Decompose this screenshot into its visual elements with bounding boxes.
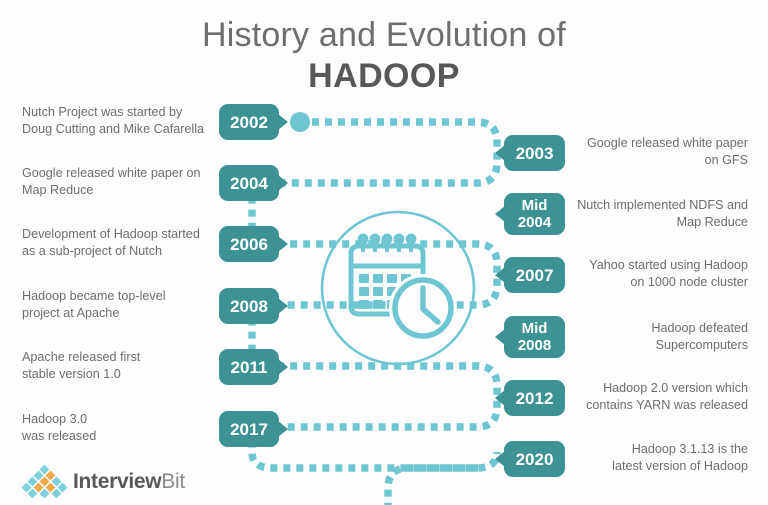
- year-badge-left-5-line-0: 2017: [230, 420, 268, 439]
- year-badge-left-2-line-0: 2006: [230, 235, 268, 254]
- event-text-right-5-line-1: latest version of Hadoop: [563, 458, 748, 475]
- event-text-right-0: Google released white paper on GFS: [563, 135, 748, 169]
- year-badge-right-5[interactable]: 2020: [504, 441, 565, 477]
- year-badge-right-2[interactable]: 2007: [504, 257, 565, 293]
- year-badge-left-2[interactable]: 2006: [219, 226, 279, 262]
- year-badge-right-5-line-0: 2020: [516, 450, 554, 469]
- event-text-left-4-line-1: stable version 1.0: [22, 366, 212, 383]
- event-text-left-3-line-0: Hadoop became top-level: [22, 288, 212, 305]
- event-text-right-5: Hadoop 3.1.13 is the latest version of H…: [563, 441, 748, 475]
- event-text-left-1-line-0: Google released white paper on: [22, 165, 212, 182]
- year-badge-left-4-line-0: 2011: [231, 358, 268, 377]
- year-badge-right-2-line-0: 2007: [516, 266, 554, 285]
- event-text-right-1-line-1: Map Reduce: [563, 214, 748, 231]
- event-text-right-4: Hadoop 2.0 version which contains YARN w…: [563, 380, 748, 414]
- event-text-left-3-line-1: project at Apache: [22, 305, 212, 322]
- event-text-left-4: Apache released first stable version 1.0: [22, 349, 212, 383]
- year-badge-left-4[interactable]: 2011: [219, 349, 279, 385]
- infographic-canvas: History and Evolution of HADOOP 2002 200…: [0, 0, 768, 505]
- event-text-right-3-line-0: Hadoop defeated: [563, 320, 748, 337]
- event-text-left-4-line-0: Apache released first: [22, 349, 212, 366]
- year-badge-right-3[interactable]: Mid 2008: [504, 316, 565, 358]
- event-text-right-1-line-0: Nutch implemented NDFS and: [563, 197, 748, 214]
- event-text-left-5-line-1: was released: [22, 428, 212, 445]
- event-text-left-0: Nutch Project was started by Doug Cuttin…: [22, 104, 212, 138]
- year-badge-right-0[interactable]: 2003: [504, 135, 565, 171]
- event-text-right-3-line-1: Supercomputers: [563, 337, 748, 354]
- event-text-right-4-line-1: contains YARN was released: [563, 397, 748, 414]
- event-text-left-2: Development of Hadoop started as a sub-p…: [22, 226, 212, 260]
- event-text-right-0-line-0: Google released white paper: [563, 135, 748, 152]
- event-text-left-5-line-0: Hadoop 3.0: [22, 411, 212, 428]
- event-text-right-5-line-0: Hadoop 3.1.13 is the: [563, 441, 748, 458]
- year-badge-right-0-line-0: 2003: [516, 144, 554, 163]
- event-text-left-1-line-1: Map Reduce: [22, 182, 212, 199]
- year-badge-right-1[interactable]: Mid 2004: [504, 193, 565, 235]
- event-text-left-5: Hadoop 3.0 was released: [22, 411, 212, 445]
- year-badge-right-1-line-1: 2004: [518, 214, 551, 231]
- interviewbit-wordmark: InterviewBit: [73, 471, 185, 492]
- year-badge-right-1-line-0: Mid: [522, 197, 548, 214]
- event-text-right-3: Hadoop defeated Supercomputers: [563, 320, 748, 354]
- event-text-left-3: Hadoop became top-level project at Apach…: [22, 288, 212, 322]
- calendar-clock-icon: [318, 208, 478, 368]
- year-badge-left-1[interactable]: 2004: [219, 165, 279, 201]
- event-text-right-2-line-0: Yahoo started using Hadoop: [563, 257, 748, 274]
- event-text-left-1: Google released white paper on Map Reduc…: [22, 165, 212, 199]
- logo-word-bit: Bit: [161, 470, 185, 493]
- timeline-start-dot: [290, 112, 310, 132]
- year-badge-left-3-line-0: 2008: [230, 297, 268, 316]
- interviewbit-logo-mark: [20, 464, 68, 498]
- logo-word-interview: Interview: [73, 470, 161, 493]
- year-badge-right-3-line-0: Mid: [522, 320, 548, 337]
- event-text-left-0-line-0: Nutch Project was started by: [22, 104, 212, 121]
- year-badge-right-4-line-0: 2012: [516, 389, 554, 408]
- event-text-left-2-line-1: as a sub-project of Nutch: [22, 243, 212, 260]
- year-badge-left-5[interactable]: 2017: [219, 411, 279, 447]
- event-text-left-2-line-0: Development of Hadoop started: [22, 226, 212, 243]
- year-badge-left-3[interactable]: 2008: [219, 288, 279, 324]
- year-badge-left-0[interactable]: 2002: [219, 104, 279, 140]
- event-text-right-0-line-1: on GFS: [563, 152, 748, 169]
- event-text-right-1: Nutch implemented NDFS and Map Reduce: [563, 197, 748, 231]
- year-badge-right-4[interactable]: 2012: [504, 380, 565, 416]
- event-text-right-2-line-1: on 1000 node cluster: [563, 274, 748, 291]
- year-badge-right-3-line-1: 2008: [518, 337, 551, 354]
- event-text-right-4-line-0: Hadoop 2.0 version which: [563, 380, 748, 397]
- year-badge-left-1-line-0: 2004: [230, 174, 268, 193]
- event-text-right-2: Yahoo started using Hadoop on 1000 node …: [563, 257, 748, 291]
- interviewbit-logo[interactable]: InterviewBit: [20, 462, 195, 500]
- event-text-left-0-line-1: Doug Cutting and Mike Cafarella: [22, 121, 212, 138]
- year-badge-left-0-line-0: 2002: [230, 113, 268, 132]
